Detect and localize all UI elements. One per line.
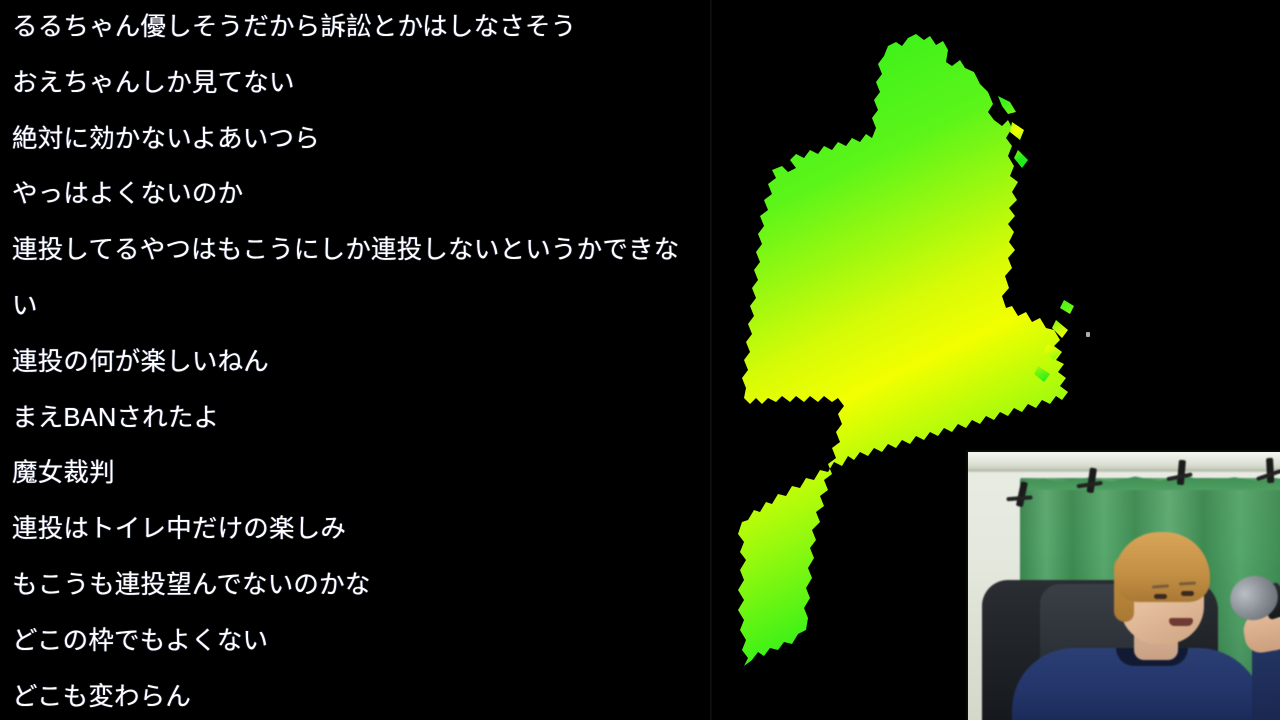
chat-message: どこも変わらん — [0, 670, 711, 720]
chat-message: るるちゃん優しそうだから訴訟とかはしなさそう — [0, 0, 711, 56]
streamer-eye — [1154, 594, 1167, 599]
ceiling-rail — [968, 452, 1280, 470]
chat-message: 魔女裁判 — [0, 446, 711, 502]
ceiling-rail-edge — [968, 469, 1280, 472]
webcam-pip[interactable] — [966, 450, 1280, 720]
chat-message: おえちゃんしか見てない — [0, 56, 711, 112]
chat-panel: るるちゃん優しそうだから訴訟とかはしなさそうおえちゃんしか見てない絶対に効かない… — [0, 0, 711, 720]
chat-message: どこの枠でもよくない — [0, 614, 711, 670]
streamer-mouth — [1169, 618, 1193, 626]
cloth-clip-icon — [1266, 458, 1274, 483]
chat-message: 連投の何が楽しいねん — [0, 335, 711, 391]
webcam-scene — [968, 452, 1280, 720]
chat-message: 絶対に効かないよあいつら — [0, 112, 711, 168]
chat-message: もこうも連投望んでないのかな — [0, 558, 711, 614]
streamer-eye — [1181, 591, 1194, 596]
stream-stage: るるちゃん優しそうだから訴訟とかはしなさそうおえちゃんしか見てない絶対に効かない… — [0, 0, 1280, 720]
chat-message: 連投してるやつはもこうにしか連投しないというかできない — [0, 223, 711, 335]
map-stray-marker-dot — [1086, 332, 1090, 337]
chat-message: 連投はトイレ中だけの楽しみ — [0, 502, 711, 558]
chat-message: まえBANされたよ — [0, 391, 711, 447]
chat-message-list: るるちゃん優しそうだから訴訟とかはしなさそうおえちゃんしか見てない絶対に効かない… — [0, 0, 711, 720]
chat-message: やっはよくないのか — [0, 167, 711, 223]
